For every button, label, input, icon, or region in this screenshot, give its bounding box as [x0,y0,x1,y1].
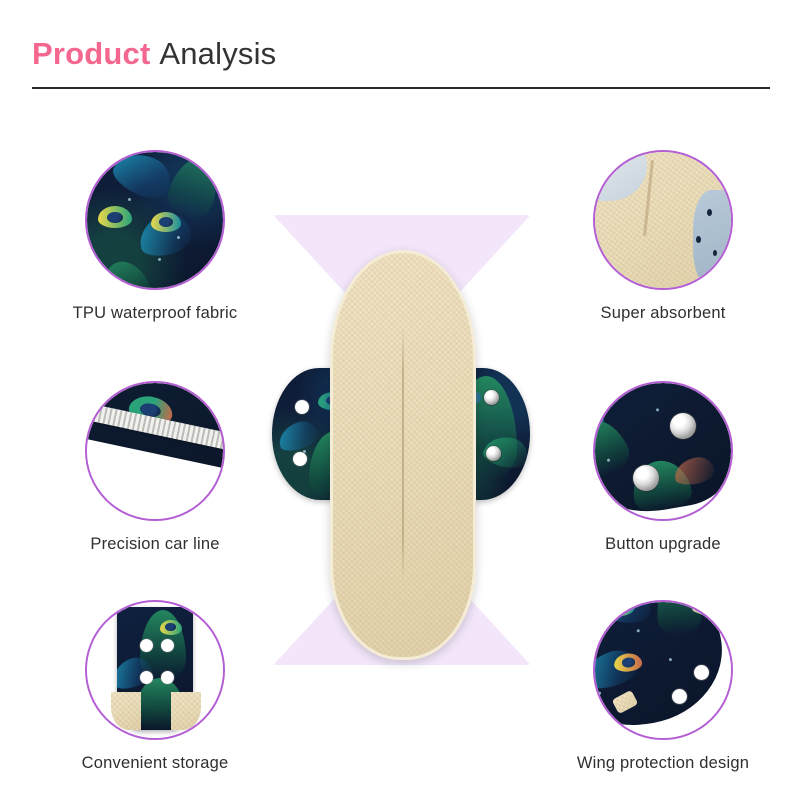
cream-liner-corner [171,692,201,730]
fabric-speck [637,629,640,632]
fabric-speck [624,384,627,387]
fabric-speck [669,658,672,661]
snap-button [670,413,696,439]
feature-super-absorbent: Super absorbent [548,150,778,323]
peacock-frond [595,411,635,486]
feature-photo [87,602,223,738]
page-header: Product Analysis [32,34,772,74]
feature-circle [85,381,225,521]
cream-liner-corner [111,692,141,730]
hero-product-image [250,200,550,690]
feature-precision-car-line: Precision car line [40,381,270,554]
feature-photo [595,152,731,288]
feature-image-wrap [593,150,733,290]
feature-wing-protection-design: Wing protection design [548,600,778,773]
feature-photo [87,383,223,519]
peacock-eye-icon [98,206,132,228]
feature-caption: Button upgrade [548,535,778,554]
peacock-plume [672,454,716,487]
feature-caption: Convenient storage [40,754,270,773]
feature-convenient-storage: Convenient storage [40,600,270,773]
snap-button [633,465,659,491]
pad-center-seam [402,326,404,585]
feature-caption: Precision car line [40,535,270,554]
header-divider [32,87,770,89]
feature-image-wrap [85,381,225,521]
navy-fabric-panel [595,383,731,519]
fabric-speck [158,258,161,261]
feature-circle [85,150,225,290]
feature-photo [595,383,731,519]
feature-circle [593,381,733,521]
feature-image-wrap [85,150,225,290]
page-title-plain: Analysis [159,36,276,71]
snap-button [140,639,153,652]
feature-photo [595,602,731,738]
feature-image-wrap [85,600,225,740]
feature-tpu-waterproof-fabric: TPU waterproof fabric [40,150,270,323]
peacock-eye-icon [614,652,644,673]
feature-caption: Wing protection design [548,754,778,773]
fabric-speck [598,691,601,694]
feature-image-wrap [593,600,733,740]
product-analysis-infographic: Product Analysis [0,0,800,800]
navy-wing-panel [595,602,730,732]
feature-circle [593,600,733,740]
peacock-eye-icon [151,212,181,232]
feature-caption: Super absorbent [548,304,778,323]
absorbent-pad-surface [330,250,476,660]
fabric-speck [656,408,659,411]
feature-circle [593,150,733,290]
snap-button [140,671,153,684]
feature-image-wrap [593,381,733,521]
wing-snap [694,665,709,680]
feature-caption: TPU waterproof fabric [40,304,270,323]
feature-circle [85,600,225,740]
wing-snap [295,400,309,414]
peacock-eye-icon [160,620,182,635]
page-title: Product Analysis [32,34,772,74]
feature-button-upgrade: Button upgrade [548,381,778,554]
feature-photo [87,152,223,288]
page-title-accent: Product [32,36,151,71]
